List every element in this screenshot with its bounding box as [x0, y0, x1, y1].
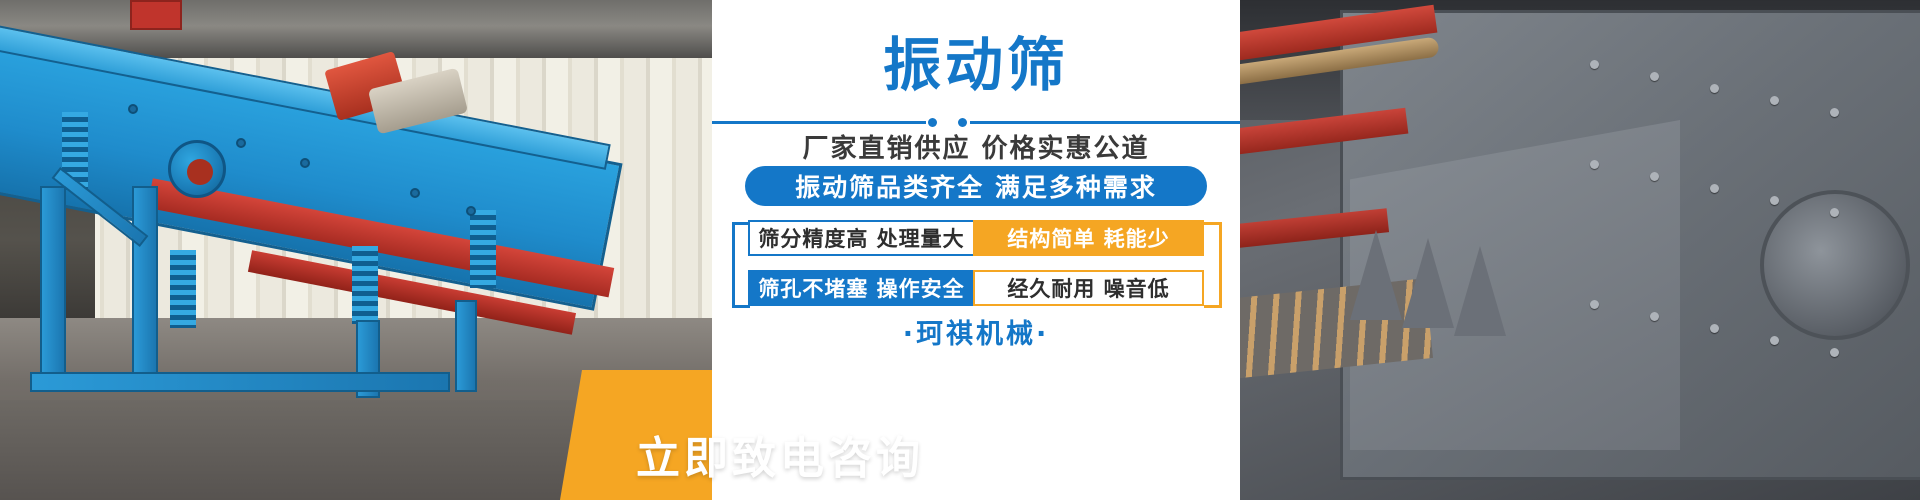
- deck-bolt-4: [410, 188, 420, 198]
- deck-bolt-3: [300, 158, 310, 168]
- deck-bolt-1: [128, 104, 138, 114]
- feature-chip-2-right: 经久耐用 噪音低: [973, 270, 1204, 306]
- divider-dot-left: [928, 118, 937, 127]
- divider-dot-right: [958, 118, 967, 127]
- gusset-plate-1: [1350, 230, 1402, 320]
- subtitle: 厂家直销供应 价格实惠公道: [712, 128, 1240, 165]
- support-leg-4: [455, 300, 477, 392]
- exciter-hub: [168, 140, 226, 198]
- support-leg-2: [132, 186, 158, 386]
- divider-line-right: [970, 121, 1240, 124]
- gusset-plate-3: [1454, 246, 1506, 336]
- feature-chip-1-left: 筛分精度高 处理量大: [748, 220, 973, 256]
- damping-spring-4: [470, 210, 496, 288]
- promo-banner: 振动筛 厂家直销供应 价格实惠公道 振动筛品类齐全 满足多种需求 筛分精度高 处…: [0, 0, 1920, 500]
- damping-spring-2: [170, 250, 196, 328]
- feature-chip-2-left: 筛孔不堵塞 操作安全: [748, 270, 973, 306]
- feature-chip-1-right: 结构简单 耗能少: [973, 220, 1204, 256]
- title-divider: [712, 117, 1240, 127]
- gusset-plate-2: [1402, 238, 1454, 328]
- damping-spring-3: [352, 246, 378, 324]
- feature-row-2: 筛孔不堵塞 操作安全 经久耐用 噪音低: [748, 270, 1204, 306]
- feature-row-1: 筛分精度高 处理量大 结构简单 耗能少: [748, 220, 1204, 256]
- page-title: 振动筛: [712, 18, 1240, 102]
- brand-name: ·珂祺机械·: [712, 312, 1240, 351]
- red-wall-marker: [130, 0, 182, 30]
- deck-bolt-2: [236, 138, 246, 148]
- support-leg-1: [40, 186, 66, 386]
- cta-call-now[interactable]: 立即致电咨询: [600, 422, 960, 486]
- feature-bracket-right: [1204, 222, 1222, 308]
- divider-line-left: [712, 121, 926, 124]
- base-frame-beam: [30, 372, 450, 392]
- highlight-pill: 振动筛品类齐全 满足多种需求: [745, 166, 1207, 206]
- deck-bolt-5: [466, 206, 476, 216]
